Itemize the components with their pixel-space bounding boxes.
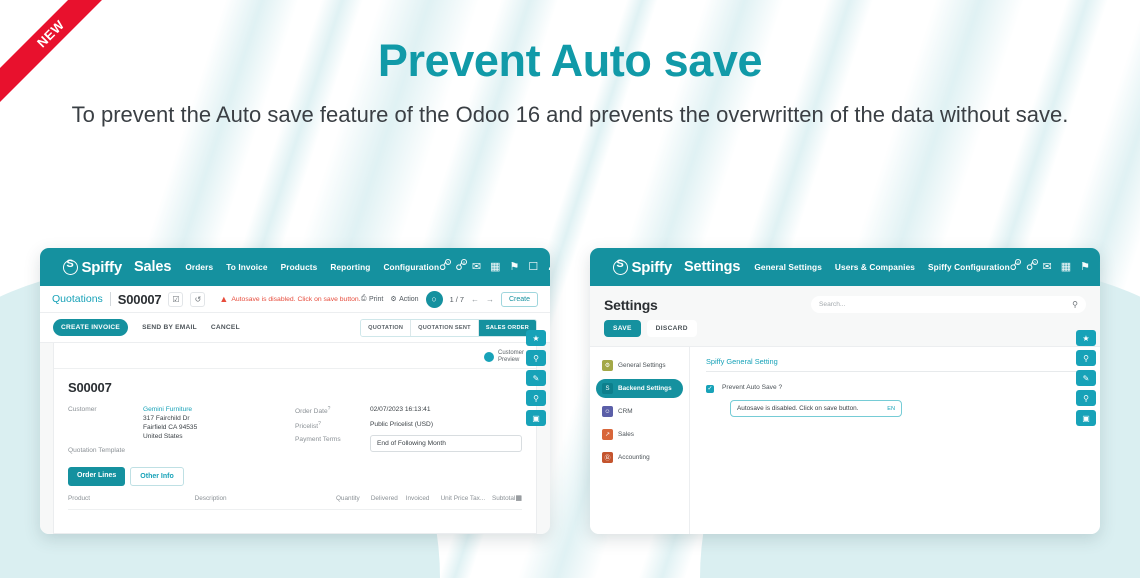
brand-name: Spiffy	[82, 259, 122, 276]
menu-item-to-invoice[interactable]: To Invoice	[226, 262, 267, 272]
breadcrumb-divider	[110, 292, 111, 306]
sheet-tabs: Order Lines Other Info	[68, 467, 522, 486]
th-unit-price: Unit Price	[441, 495, 470, 502]
zoom-icon[interactable]: ⚲	[1076, 390, 1096, 406]
chevron-left-icon[interactable]: ←	[471, 295, 479, 304]
backend-settings-icon: S	[602, 383, 613, 394]
breadcrumb: Quotations S00007 ☑ ↺ ▲ Autosave is disa…	[40, 286, 550, 313]
messages-badge: 0	[1015, 259, 1021, 265]
payment-terms-label: Payment Terms	[295, 435, 370, 443]
menu-item-general-settings[interactable]: General Settings	[754, 262, 822, 272]
order-lines-table-header: Product Description Quantity Delivered I…	[68, 486, 522, 510]
sales-screenshot-card: Spiffy Sales Orders To Invoice Products …	[40, 248, 550, 534]
customer-field-row: Customer Gemini Furniture 317 Fairchild …	[68, 405, 295, 441]
brand-name: Spiffy	[632, 259, 672, 276]
customer-label: Customer	[68, 405, 143, 413]
autosave-message-value: Autosave is disabled. Click on save butt…	[737, 405, 859, 412]
autosave-message-input[interactable]: Autosave is disabled. Click on save butt…	[730, 400, 902, 417]
payment-terms-row: Payment Terms End of Following Month	[295, 435, 522, 452]
order-date-label: Order Date?	[295, 405, 370, 415]
pin-icon[interactable]: ♟	[547, 262, 550, 273]
spiffy-logo-icon	[63, 260, 78, 275]
accounting-icon: Ⓑ	[602, 452, 613, 463]
sales-icon: ↗	[602, 429, 613, 440]
flag-icon[interactable]: ⚑	[1080, 262, 1090, 273]
menu-item-products[interactable]: Products	[281, 262, 318, 272]
general-settings-icon: ⚙	[602, 360, 613, 371]
navbar-menu: Orders To Invoice Products Reporting Con…	[185, 262, 439, 272]
th-invoiced: Invoiced	[406, 495, 441, 502]
sales-side-buttons: ★ ⚲ ✎ ⚲ ▣	[526, 330, 546, 426]
grid-view-icon[interactable]: ▦	[490, 262, 500, 273]
stage-quotation[interactable]: QUOTATION	[361, 320, 411, 336]
activities-badge: 0	[1032, 259, 1038, 265]
menu-item-spiffy-configuration[interactable]: Spiffy Configuration	[928, 262, 1010, 272]
customer-name[interactable]: Gemini Furniture	[143, 406, 192, 413]
customer-address-line3: United States	[143, 433, 183, 440]
save-button[interactable]: SAVE	[604, 320, 641, 337]
th-subtotal: Subtotal	[492, 495, 515, 502]
favorite-star-icon[interactable]: ★	[1076, 330, 1096, 346]
search-input[interactable]: Search... ⚲	[811, 296, 1086, 313]
sidebar-item-general-settings[interactable]: ⚙ General Settings	[596, 356, 683, 375]
form-sheet: Customer Preview S00007 Customer Gemini …	[53, 343, 537, 534]
settings-actions: SAVE DISCARD	[590, 313, 1100, 346]
breadcrumb-current: S00007	[118, 292, 162, 307]
save-record-icon[interactable]: ☑	[168, 292, 183, 307]
customer-address-line1: 317 Fairchild Dr	[143, 415, 190, 422]
messages-badge: 0	[445, 259, 451, 265]
menu-item-orders[interactable]: Orders	[185, 262, 213, 272]
gear-icon: ⚙	[390, 295, 396, 303]
brand-logo[interactable]: Spiffy	[63, 259, 122, 276]
favorite-star-icon[interactable]: ★	[526, 330, 546, 346]
apps-grid-icon[interactable]	[600, 258, 603, 276]
bookmark-icon[interactable]: ▣	[1076, 410, 1096, 426]
stage-quotation-sent[interactable]: QUOTATION SENT	[411, 320, 479, 336]
menu-item-reporting[interactable]: Reporting	[330, 262, 370, 272]
sidebar-item-label: CRM	[618, 408, 633, 415]
sidebar-item-crm[interactable]: ☺ CRM	[596, 402, 683, 421]
activities-icon[interactable]: ☌0	[1026, 262, 1033, 273]
note-icon[interactable]: ☐	[1099, 262, 1100, 273]
send-by-email-button[interactable]: SEND BY EMAIL	[142, 324, 197, 331]
menu-item-configuration[interactable]: Configuration	[383, 262, 439, 272]
messages-icon[interactable]: ☌0	[1010, 262, 1017, 273]
page-title: Prevent Auto save	[0, 36, 1140, 86]
discard-record-icon[interactable]: ↺	[190, 292, 205, 307]
new-ribbon: NEW	[0, 0, 120, 120]
pager-text: 1 / 7	[450, 295, 464, 304]
print-label: Print	[369, 296, 383, 303]
sidebar-item-sales[interactable]: ↗ Sales	[596, 425, 683, 444]
search-icon[interactable]: ⚲	[526, 350, 546, 366]
settings-page-title: Settings	[604, 297, 658, 313]
brand-logo[interactable]: Spiffy	[613, 259, 672, 276]
statusbar: CREATE INVOICE SEND BY EMAIL CANCEL QUOT…	[40, 313, 550, 343]
action-label: Action	[399, 296, 418, 303]
settings-screenshot-card: Spiffy Settings General Settings Users &…	[590, 248, 1100, 534]
th-tax: Tax...	[470, 495, 492, 502]
search-placeholder: Search...	[819, 301, 845, 308]
print-button[interactable]: ⎙ Print	[361, 295, 384, 303]
globe-icon	[484, 352, 494, 362]
apps-grid-icon[interactable]	[50, 258, 53, 276]
pricelist-label: Pricelist?	[295, 420, 370, 430]
tab-other-info[interactable]: Other Info	[130, 467, 183, 486]
section-title: Spiffy General Setting	[706, 357, 1084, 372]
order-date-row: Order Date? 02/07/2023 16:13:41	[295, 405, 522, 415]
settings-body: ⚙ General Settings S Backend Settings ☺ …	[590, 346, 1100, 534]
record-toolbar: ⎙ Print ⚙ Action ○ 1 / 7 ← → Create	[361, 291, 538, 308]
form-fields: Customer Gemini Furniture 317 Fairchild …	[68, 405, 522, 459]
chevron-right-icon[interactable]: →	[486, 295, 494, 304]
pricelist-row: Pricelist? Public Pricelist (USD)	[295, 420, 522, 430]
autosave-warning: ▲ Autosave is disabled. Click on save bu…	[219, 295, 360, 304]
discard-button[interactable]: DISCARD	[647, 320, 697, 337]
th-product: Product	[68, 495, 195, 502]
order-date-value[interactable]: 02/07/2023 16:13:41	[370, 405, 431, 414]
messages-icon[interactable]: ☌0	[439, 262, 446, 273]
prevent-auto-save-label: Prevent Auto Save ?	[722, 384, 782, 391]
sidebar-item-accounting[interactable]: Ⓑ Accounting	[596, 448, 683, 467]
edit-pencil-icon[interactable]: ✎	[526, 370, 546, 386]
note-icon[interactable]: ☐	[528, 262, 538, 273]
activities-badge: 0	[461, 259, 467, 265]
sidebar-item-label: Accounting	[618, 454, 650, 461]
th-description: Description	[195, 495, 336, 502]
breadcrumb-parent[interactable]: Quotations	[52, 293, 103, 305]
cancel-button[interactable]: CANCEL	[211, 324, 240, 331]
customer-preview-button[interactable]: Customer Preview	[484, 350, 524, 364]
action-button[interactable]: ⚙ Action	[390, 295, 418, 303]
language-badge[interactable]: EN	[887, 406, 895, 412]
zoom-icon[interactable]: ⚲	[526, 390, 546, 406]
sidebar-item-label: Sales	[618, 431, 634, 438]
sidebar-item-label: General Settings	[618, 362, 666, 369]
customer-address-line2: Fairfield CA 94535	[143, 424, 197, 431]
payment-terms-input[interactable]: End of Following Month	[370, 435, 522, 452]
sheet-divider	[54, 368, 536, 369]
navbar-menu: General Settings Users & Companies Spiff…	[754, 262, 1009, 272]
app-name: Settings	[684, 259, 740, 275]
menu-item-users-companies[interactable]: Users & Companies	[835, 262, 915, 272]
th-delivered: Delivered	[371, 495, 406, 502]
page-subtitle: To prevent the Auto save feature of the …	[0, 100, 1140, 129]
pricelist-value[interactable]: Public Pricelist (USD)	[370, 420, 433, 429]
printer-icon: ⎙	[361, 295, 367, 303]
navbar-systray: ☌0 ☌0 ✉ ▦ ⚑ ☐ ♟	[1010, 258, 1100, 277]
prevent-auto-save-checkbox[interactable]: ✓	[706, 385, 714, 393]
settings-header: Settings Search... ⚲	[590, 286, 1100, 313]
sales-navbar: Spiffy Sales Orders To Invoice Products …	[40, 248, 550, 286]
spiffy-logo-icon	[613, 260, 628, 275]
activities-icon[interactable]: ☌0	[456, 262, 463, 273]
crm-icon: ☺	[602, 406, 613, 417]
customer-preview-line2: Preview	[498, 357, 519, 363]
form-sheet-wrapper: Customer Preview S00007 Customer Gemini …	[40, 343, 550, 534]
print-icon[interactable]: ✉	[1043, 262, 1052, 273]
customer-value: Gemini Furniture 317 Fairchild Dr Fairfi…	[143, 405, 197, 441]
column-settings-icon[interactable]: ▦	[515, 494, 522, 502]
flag-icon[interactable]: ⚑	[510, 262, 520, 273]
app-name: Sales	[134, 259, 171, 275]
sidebar-item-backend-settings[interactable]: S Backend Settings	[596, 379, 683, 398]
form-column-left: Customer Gemini Furniture 317 Fairchild …	[68, 405, 295, 459]
create-invoice-button[interactable]: CREATE INVOICE	[53, 319, 128, 336]
warning-triangle-icon: ▲	[219, 295, 228, 304]
edit-pencil-icon[interactable]: ✎	[1076, 370, 1096, 386]
search-icon[interactable]: ⚲	[1072, 300, 1078, 309]
stage-pipeline: QUOTATION QUOTATION SENT SALES ORDER	[360, 319, 537, 337]
navbar-systray: ☌0 ☌0 ✉ ▦ ⚑ ☐ ♟	[439, 258, 550, 277]
search-icon[interactable]: ⚲	[1076, 350, 1096, 366]
grid-view-icon[interactable]: ▦	[1061, 262, 1071, 273]
quotation-template-row: Quotation Template	[68, 446, 295, 454]
settings-sidebar: ⚙ General Settings S Backend Settings ☺ …	[590, 347, 690, 534]
quotation-template-label: Quotation Template	[68, 446, 143, 454]
sidebar-item-label: Backend Settings	[618, 385, 672, 392]
print-icon[interactable]: ✉	[472, 262, 481, 273]
bookmark-icon[interactable]: ▣	[526, 410, 546, 426]
settings-navbar: Spiffy Settings General Settings Users &…	[590, 248, 1100, 286]
create-button[interactable]: Create	[501, 292, 538, 307]
form-column-right: Order Date? 02/07/2023 16:13:41 Pricelis…	[295, 405, 522, 459]
hero-section: Prevent Auto save To prevent the Auto sa…	[0, 36, 1140, 129]
customer-preview-line1: Customer	[498, 350, 524, 356]
prevent-auto-save-option: ✓ Prevent Auto Save ?	[706, 384, 1084, 393]
tab-order-lines[interactable]: Order Lines	[68, 467, 125, 486]
th-quantity: Quantity	[336, 495, 371, 502]
saving-indicator-icon[interactable]: ○	[426, 291, 443, 308]
settings-side-buttons: ★ ⚲ ✎ ⚲ ▣	[1076, 330, 1096, 426]
settings-main: Spiffy General Setting ✓ Prevent Auto Sa…	[690, 347, 1100, 534]
autosave-warning-text: Autosave is disabled. Click on save butt…	[231, 296, 360, 303]
new-ribbon-label: NEW	[0, 0, 120, 110]
record-name: S00007	[68, 380, 522, 395]
